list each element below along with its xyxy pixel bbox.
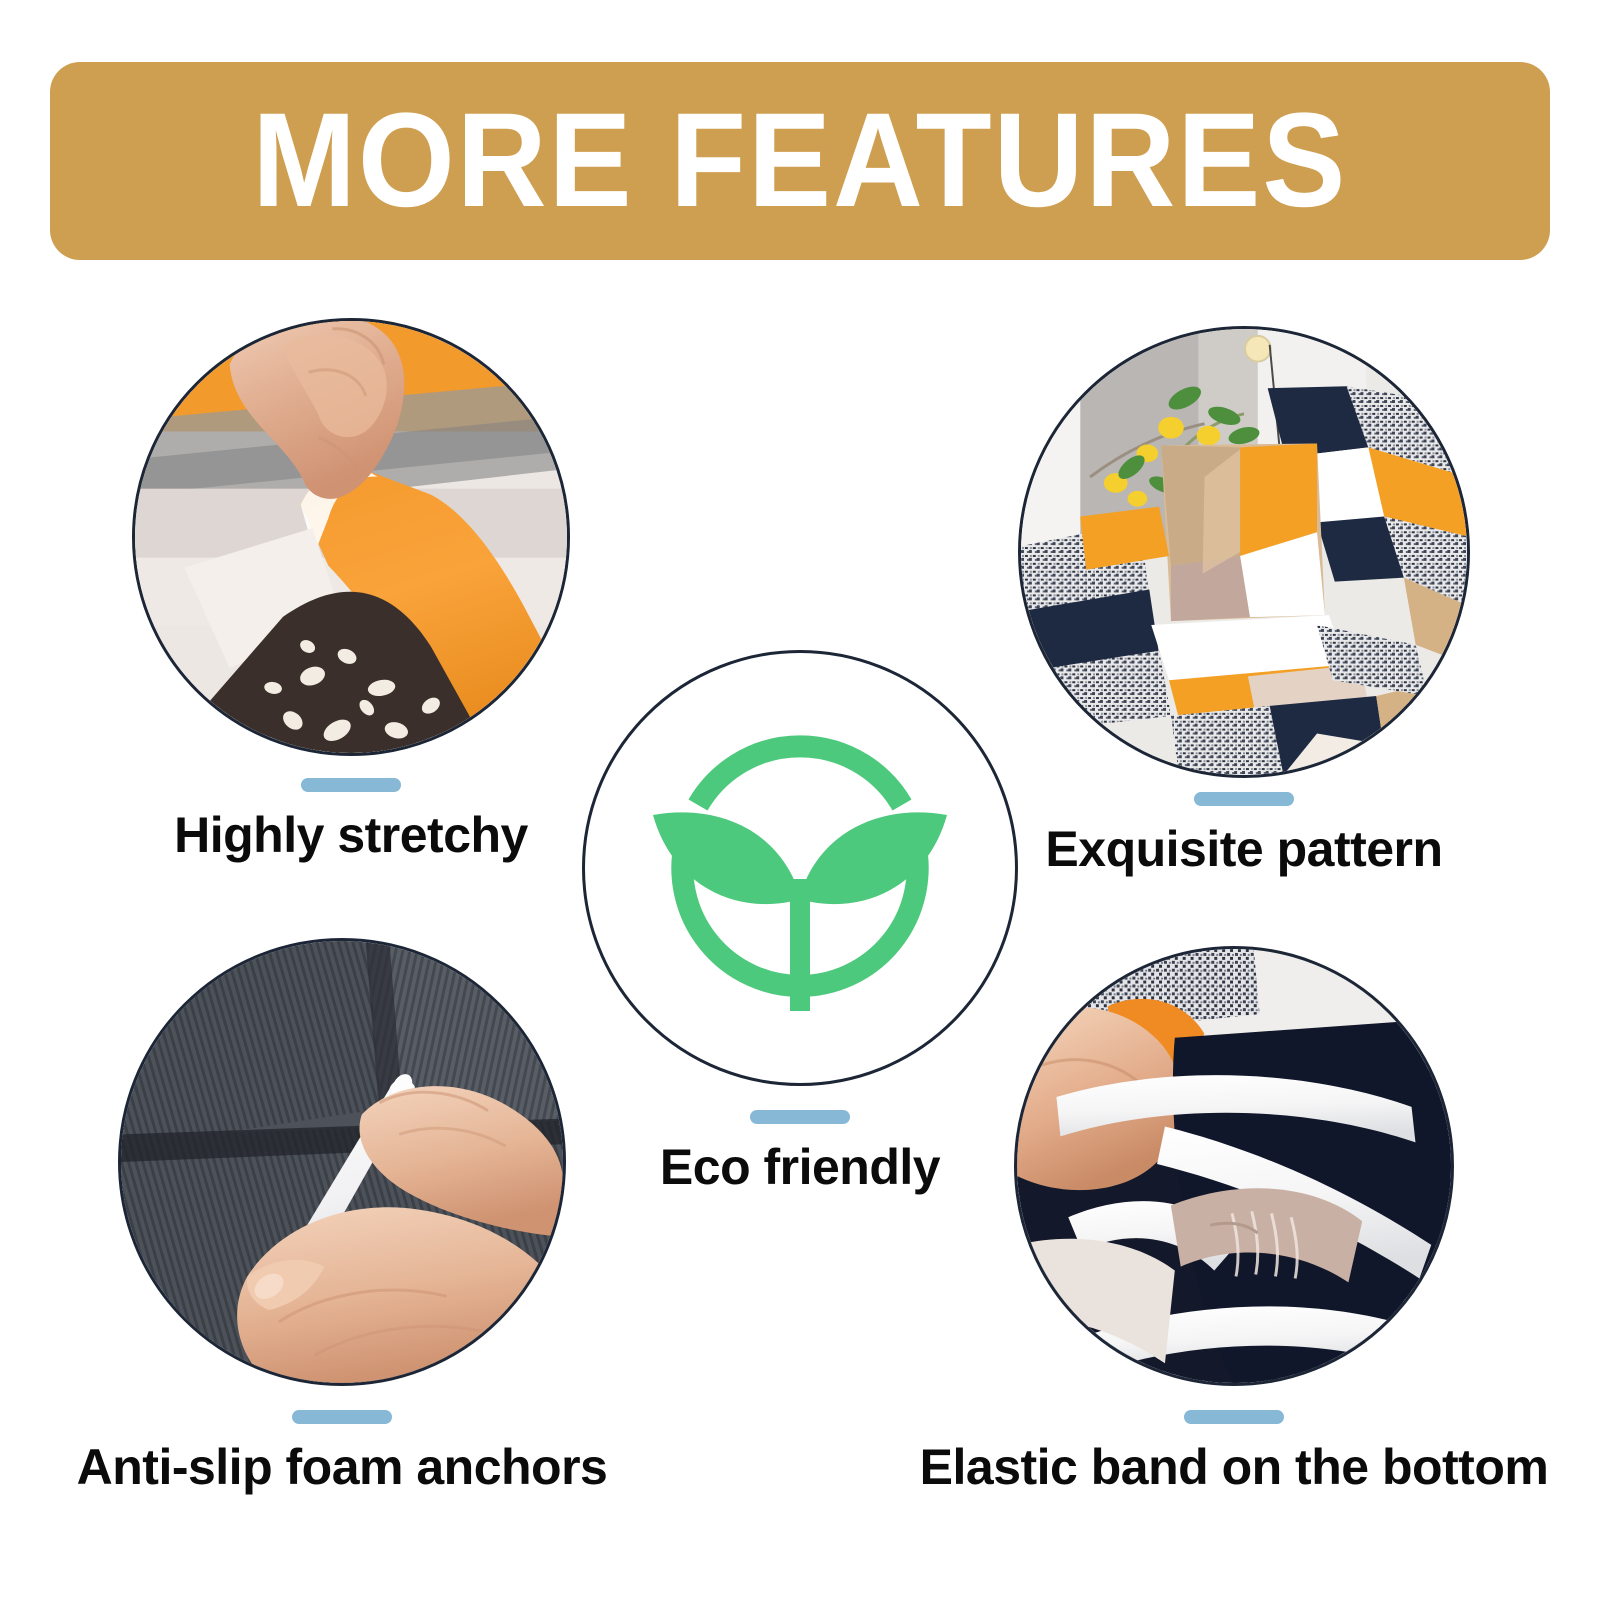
sprout-leaf-circle-icon [635,703,965,1033]
caption-divider-dash [292,1410,392,1424]
feature-label-eco-friendly: Eco friendly [660,1140,940,1195]
feature-anti-slip-foam-anchors: Anti-slip foam anchors [118,938,566,1495]
caption-divider-dash [750,1110,850,1124]
feature-elastic-band-on-the-bottom: Elastic band on the bottom [1014,946,1454,1495]
page-title: MORE FEATURES [252,94,1347,228]
caption-divider-dash [1194,792,1294,806]
more-features-infographic: MORE FEATURES [0,0,1600,1600]
feature-eco-friendly: Eco friendly [582,650,1018,1195]
caption-divider-dash [1184,1410,1284,1424]
eco-badge [582,650,1018,1086]
photo-patchwork-sofa-slipcover-icon [1018,326,1470,778]
photo-white-elastic-bands-underside-icon [1014,946,1454,1386]
photo-hands-inserting-foam-stick-icon [118,938,566,1386]
feature-label-elastic-band-on-the-bottom: Elastic band on the bottom [920,1440,1549,1495]
photo-hand-stretching-orange-fabric-icon [132,318,570,756]
header-banner: MORE FEATURES [50,62,1550,260]
feature-exquisite-pattern: Exquisite pattern [1018,326,1470,877]
feature-label-exquisite-pattern: Exquisite pattern [1045,822,1442,877]
feature-label-anti-slip-foam-anchors: Anti-slip foam anchors [77,1440,608,1495]
feature-label-highly-stretchy: Highly stretchy [174,808,528,863]
feature-highly-stretchy: Highly stretchy [132,318,570,863]
caption-divider-dash [301,778,401,792]
